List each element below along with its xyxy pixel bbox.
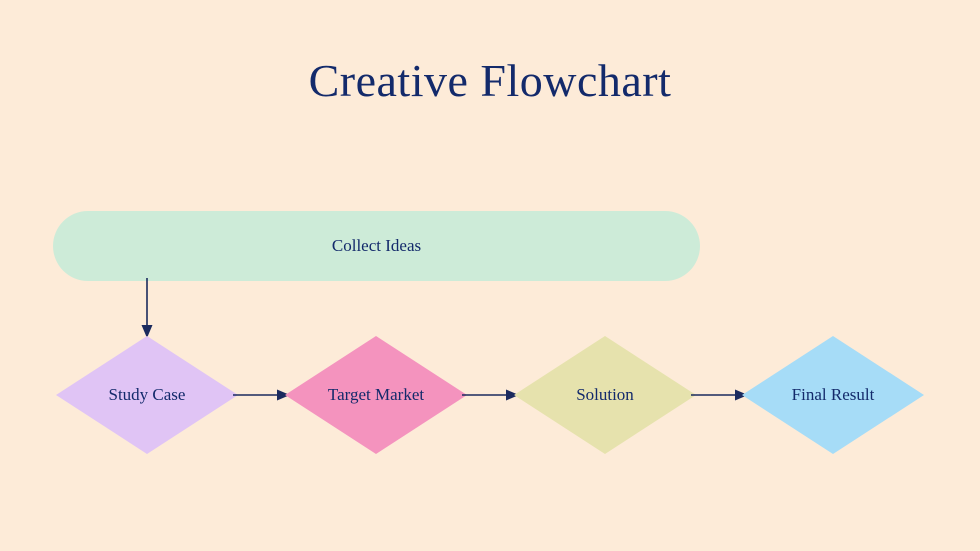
flow-node-target-market[interactable]: Target Market [285,336,467,454]
diamond-shape [285,336,467,454]
diamond-shape [56,336,238,454]
connector-target-market-to-solution [462,380,520,410]
flow-node-study-case[interactable]: Study Case [56,336,238,454]
flow-node-final-result[interactable]: Final Result [742,336,924,454]
flow-node-solution[interactable]: Solution [514,336,696,454]
flow-node-collect-ideas[interactable]: Collect Ideas [53,211,700,281]
connector-solution-to-final-result [691,380,749,410]
connector-study-case-to-target-market [233,380,291,410]
diamond-shape [514,336,696,454]
diamond-shape [742,336,924,454]
page-title: Creative Flowchart [0,55,980,107]
flow-node-label: Collect Ideas [332,236,421,256]
slide-canvas: Creative Flowchart Collect Ideas Study C… [0,0,980,551]
connector-collect-ideas-to-study-case [131,278,163,340]
